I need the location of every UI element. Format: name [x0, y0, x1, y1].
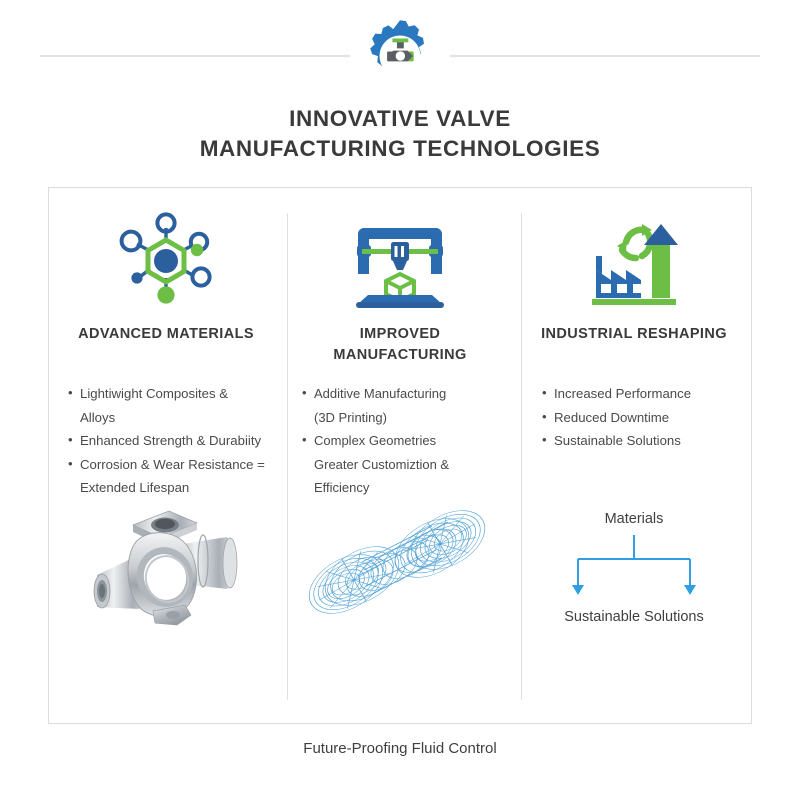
logo-row [0, 18, 800, 94]
bullet-item: Reduced Downtime [541, 406, 733, 430]
content-panel: ADVANCED MATERIALS Lightiwight Composite… [48, 187, 752, 724]
column-heading-1-text: ADVANCED MATERIALS [78, 326, 254, 342]
title-line-1: INNOVATIVE VALVE [0, 104, 800, 134]
molecule-icon [67, 210, 265, 310]
column-heading-3-text: INDUSTRIAL RESHAPING [541, 326, 727, 342]
bullet-item: Corrosion & Wear Resistance = [67, 453, 265, 477]
bullet-item: Enhanced Strength & Durabiity [67, 429, 265, 453]
column-heading-2-line-1: IMPROVED [360, 326, 441, 342]
column-heading-1: ADVANCED MATERIALS [67, 324, 265, 368]
column-heading-3: INDUSTRIAL RESHAPING [535, 324, 733, 368]
column-improved-manufacturing: IMPROVED MANUFACTURING Additive Manufact… [283, 188, 517, 723]
bullet-list-3: Increased Performance Reduced Downtime S… [541, 382, 733, 453]
valve-gear-logo-icon [362, 18, 438, 94]
column-heading-2-line-2: MANUFACTURING [333, 347, 466, 363]
page-title: INNOVATIVE VALVE MANUFACTURING TECHNOLOG… [0, 104, 800, 164]
materials-to-solutions-flow: Materials Sustainable Solutions [517, 493, 751, 643]
bullet-item-continuation: (3D Printing) [301, 406, 499, 430]
header-rule-right [450, 55, 760, 57]
flow-bottom-label: Sustainable Solutions [564, 607, 703, 627]
flow-arrow-diagram [544, 531, 724, 605]
column-advanced-materials: ADVANCED MATERIALS Lightiwight Composite… [49, 188, 283, 723]
bullet-item: Sustainable Solutions [541, 429, 733, 453]
bullet-item: Lightiwight Composites & Alloys [67, 382, 265, 429]
flow-top-label: Materials [605, 509, 664, 529]
bullet-item: Complex Geometries [301, 429, 499, 453]
recycling-factory-icon [535, 210, 733, 310]
bullet-list-1: Lightiwight Composites & Alloys Enhanced… [67, 382, 265, 500]
3d-printer-icon [301, 210, 499, 310]
footer-tagline: Future-Proofing Fluid Control [0, 740, 800, 757]
header-rule-left [40, 55, 350, 57]
valve-wireframe-cad-drawing [283, 488, 517, 638]
bullet-item: Additive Manufacturing [301, 382, 499, 406]
column-heading-2: IMPROVED MANUFACTURING [301, 324, 499, 368]
header: INNOVATIVE VALVE MANUFACTURING TECHNOLOG… [0, 0, 800, 175]
bullet-list-2: Additive Manufacturing (3D Printing) Com… [301, 382, 499, 500]
metal-valve-body-photo [49, 483, 283, 643]
column-industrial-reshaping: INDUSTRIAL RESHAPING Increased Performan… [517, 188, 751, 723]
title-line-2: MANUFACTURING TECHNOLOGIES [0, 134, 800, 164]
bullet-item: Increased Performance [541, 382, 733, 406]
